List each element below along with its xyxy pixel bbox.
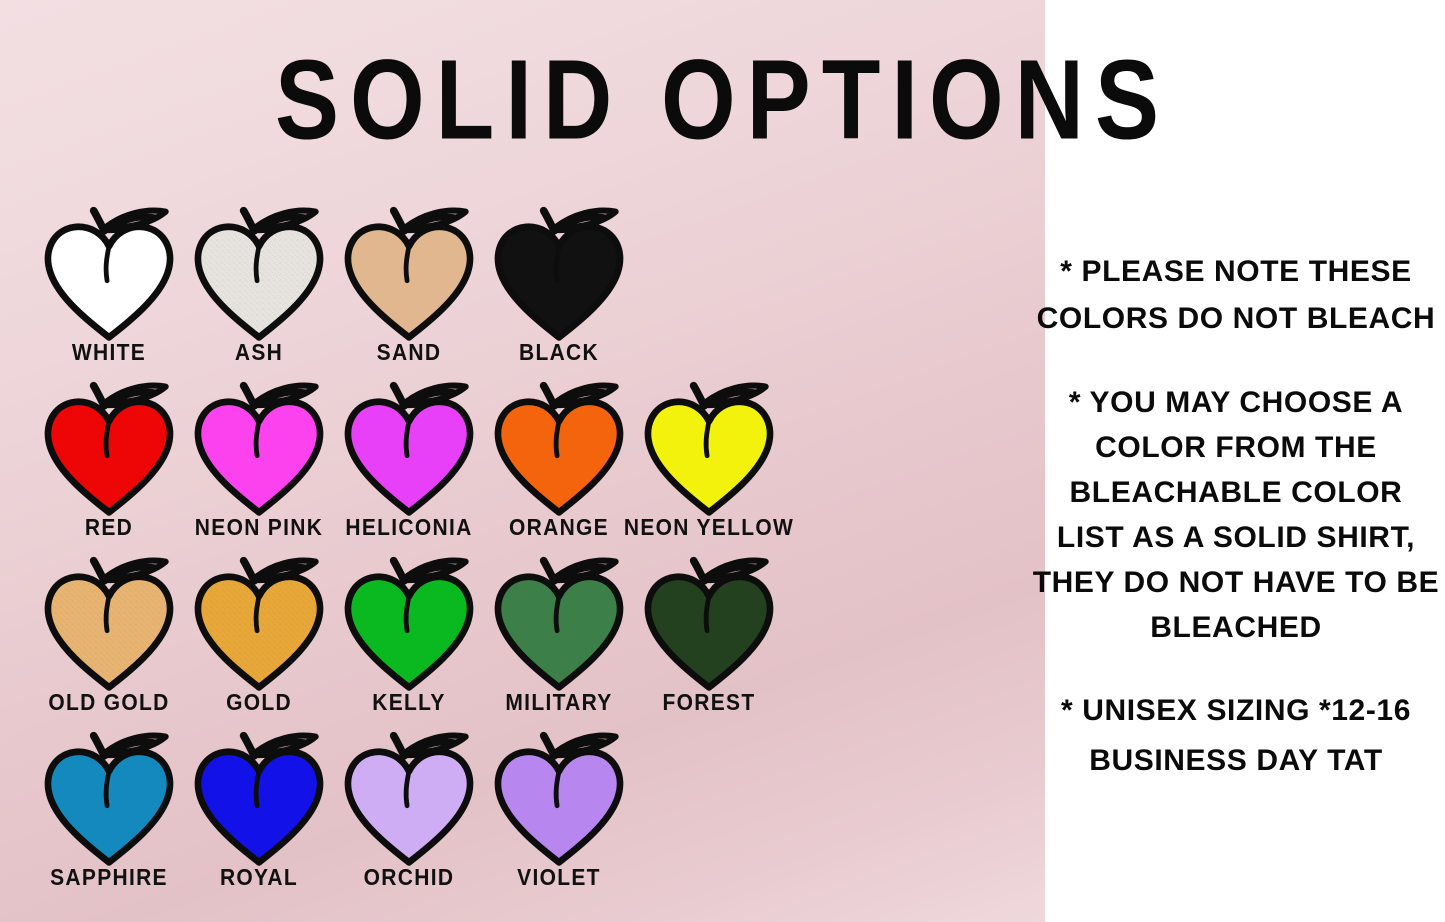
color-swatch-old-gold[interactable]: OLD GOLD — [34, 554, 184, 714]
color-swatch-label: NEON PINK — [195, 515, 323, 542]
peach-swatch-graphic — [334, 554, 484, 694]
peach-icon — [185, 554, 333, 694]
peach-icon — [185, 204, 333, 344]
color-swatch-label: FOREST — [663, 690, 756, 717]
peach-icon — [35, 729, 183, 869]
color-swatch-royal[interactable]: ROYAL — [184, 729, 334, 889]
color-swatch-label: KELLY — [372, 690, 445, 717]
peach-icon — [335, 379, 483, 519]
color-swatch-label: RED — [85, 515, 133, 542]
note-sizing-tat: * UNISEX SIZING *12-16 BUSINESS DAY TAT — [1030, 686, 1442, 786]
swatch-row: SAPPHIREROYALORCHIDVIOLET — [34, 729, 994, 904]
color-swatch-orchid[interactable]: ORCHID — [334, 729, 484, 889]
color-swatch-label: ORANGE — [509, 515, 609, 542]
peach-swatch-graphic — [334, 204, 484, 344]
color-swatch-label: BLACK — [519, 340, 599, 367]
swatch-row: OLD GOLDGOLDKELLYMILITARYFOREST — [34, 554, 994, 729]
color-swatch-violet[interactable]: VIOLET — [484, 729, 634, 889]
color-swatch-label: GOLD — [226, 690, 292, 717]
color-swatch-label: OLD GOLD — [48, 690, 169, 717]
peach-swatch-graphic — [184, 554, 334, 694]
peach-swatch-graphic — [34, 204, 184, 344]
peach-swatch-graphic — [484, 729, 634, 869]
peach-icon — [185, 379, 333, 519]
peach-icon — [185, 729, 333, 869]
solid-options-poster: SOLID OPTIONS WHITEASHSANDBLACKREDNEON P… — [0, 0, 1445, 922]
color-swatch-black[interactable]: BLACK — [484, 204, 634, 364]
color-swatch-label: ORCHID — [364, 865, 455, 892]
color-swatch-label: ASH — [235, 340, 283, 367]
peach-icon — [335, 729, 483, 869]
color-swatch-heliconia[interactable]: HELICONIA — [334, 379, 484, 539]
peach-icon — [635, 379, 783, 519]
color-swatch-label: VIOLET — [517, 865, 601, 892]
swatch-row: REDNEON PINKHELICONIAORANGENEON YELLOW — [34, 379, 994, 554]
peach-icon — [35, 379, 183, 519]
peach-swatch-graphic — [484, 204, 634, 344]
color-swatch-grid: WHITEASHSANDBLACKREDNEON PINKHELICONIAOR… — [34, 204, 994, 904]
peach-swatch-graphic — [634, 379, 784, 519]
color-swatch-label: SAPPHIRE — [50, 865, 168, 892]
peach-swatch-graphic — [34, 729, 184, 869]
color-swatch-neon-pink[interactable]: NEON PINK — [184, 379, 334, 539]
color-swatch-label: SAND — [377, 340, 442, 367]
peach-icon — [485, 729, 633, 869]
peach-icon — [35, 204, 183, 344]
peach-icon — [35, 554, 183, 694]
color-swatch-forest[interactable]: FOREST — [634, 554, 784, 714]
color-swatch-military[interactable]: MILITARY — [484, 554, 634, 714]
page-title: SOLID OPTIONS — [0, 44, 1445, 157]
color-swatch-ash[interactable]: ASH — [184, 204, 334, 364]
color-swatch-neon-yellow[interactable]: NEON YELLOW — [634, 379, 784, 539]
peach-icon — [485, 379, 633, 519]
peach-swatch-graphic — [334, 729, 484, 869]
peach-swatch-graphic — [634, 554, 784, 694]
peach-icon — [485, 204, 633, 344]
swatch-row: WHITEASHSANDBLACK — [34, 204, 994, 379]
color-swatch-sand[interactable]: SAND — [334, 204, 484, 364]
color-swatch-kelly[interactable]: KELLY — [334, 554, 484, 714]
color-swatch-label: MILITARY — [505, 690, 612, 717]
color-swatch-label: WHITE — [72, 340, 146, 367]
peach-swatch-graphic — [484, 379, 634, 519]
peach-swatch-graphic — [334, 379, 484, 519]
note-no-bleach: * PLEASE NOTE THESE COLORS DO NOT BLEACH — [1030, 248, 1442, 342]
peach-swatch-graphic — [184, 379, 334, 519]
note-bleachable-list: * YOU MAY CHOOSE A COLOR FROM THE BLEACH… — [1030, 380, 1442, 650]
notes-panel: * PLEASE NOTE THESE COLORS DO NOT BLEACH… — [1030, 248, 1442, 786]
color-swatch-label: ROYAL — [220, 865, 298, 892]
peach-icon — [485, 554, 633, 694]
color-swatch-gold[interactable]: GOLD — [184, 554, 334, 714]
color-swatch-sapphire[interactable]: SAPPHIRE — [34, 729, 184, 889]
peach-swatch-graphic — [484, 554, 634, 694]
peach-swatch-graphic — [34, 379, 184, 519]
color-swatch-label: NEON YELLOW — [624, 515, 794, 542]
peach-icon — [335, 204, 483, 344]
peach-icon — [335, 554, 483, 694]
color-swatch-white[interactable]: WHITE — [34, 204, 184, 364]
peach-swatch-graphic — [184, 204, 334, 344]
peach-swatch-graphic — [34, 554, 184, 694]
peach-icon — [635, 554, 783, 694]
color-swatch-label: HELICONIA — [345, 515, 472, 542]
peach-swatch-graphic — [184, 729, 334, 869]
color-swatch-orange[interactable]: ORANGE — [484, 379, 634, 539]
color-swatch-red[interactable]: RED — [34, 379, 184, 539]
